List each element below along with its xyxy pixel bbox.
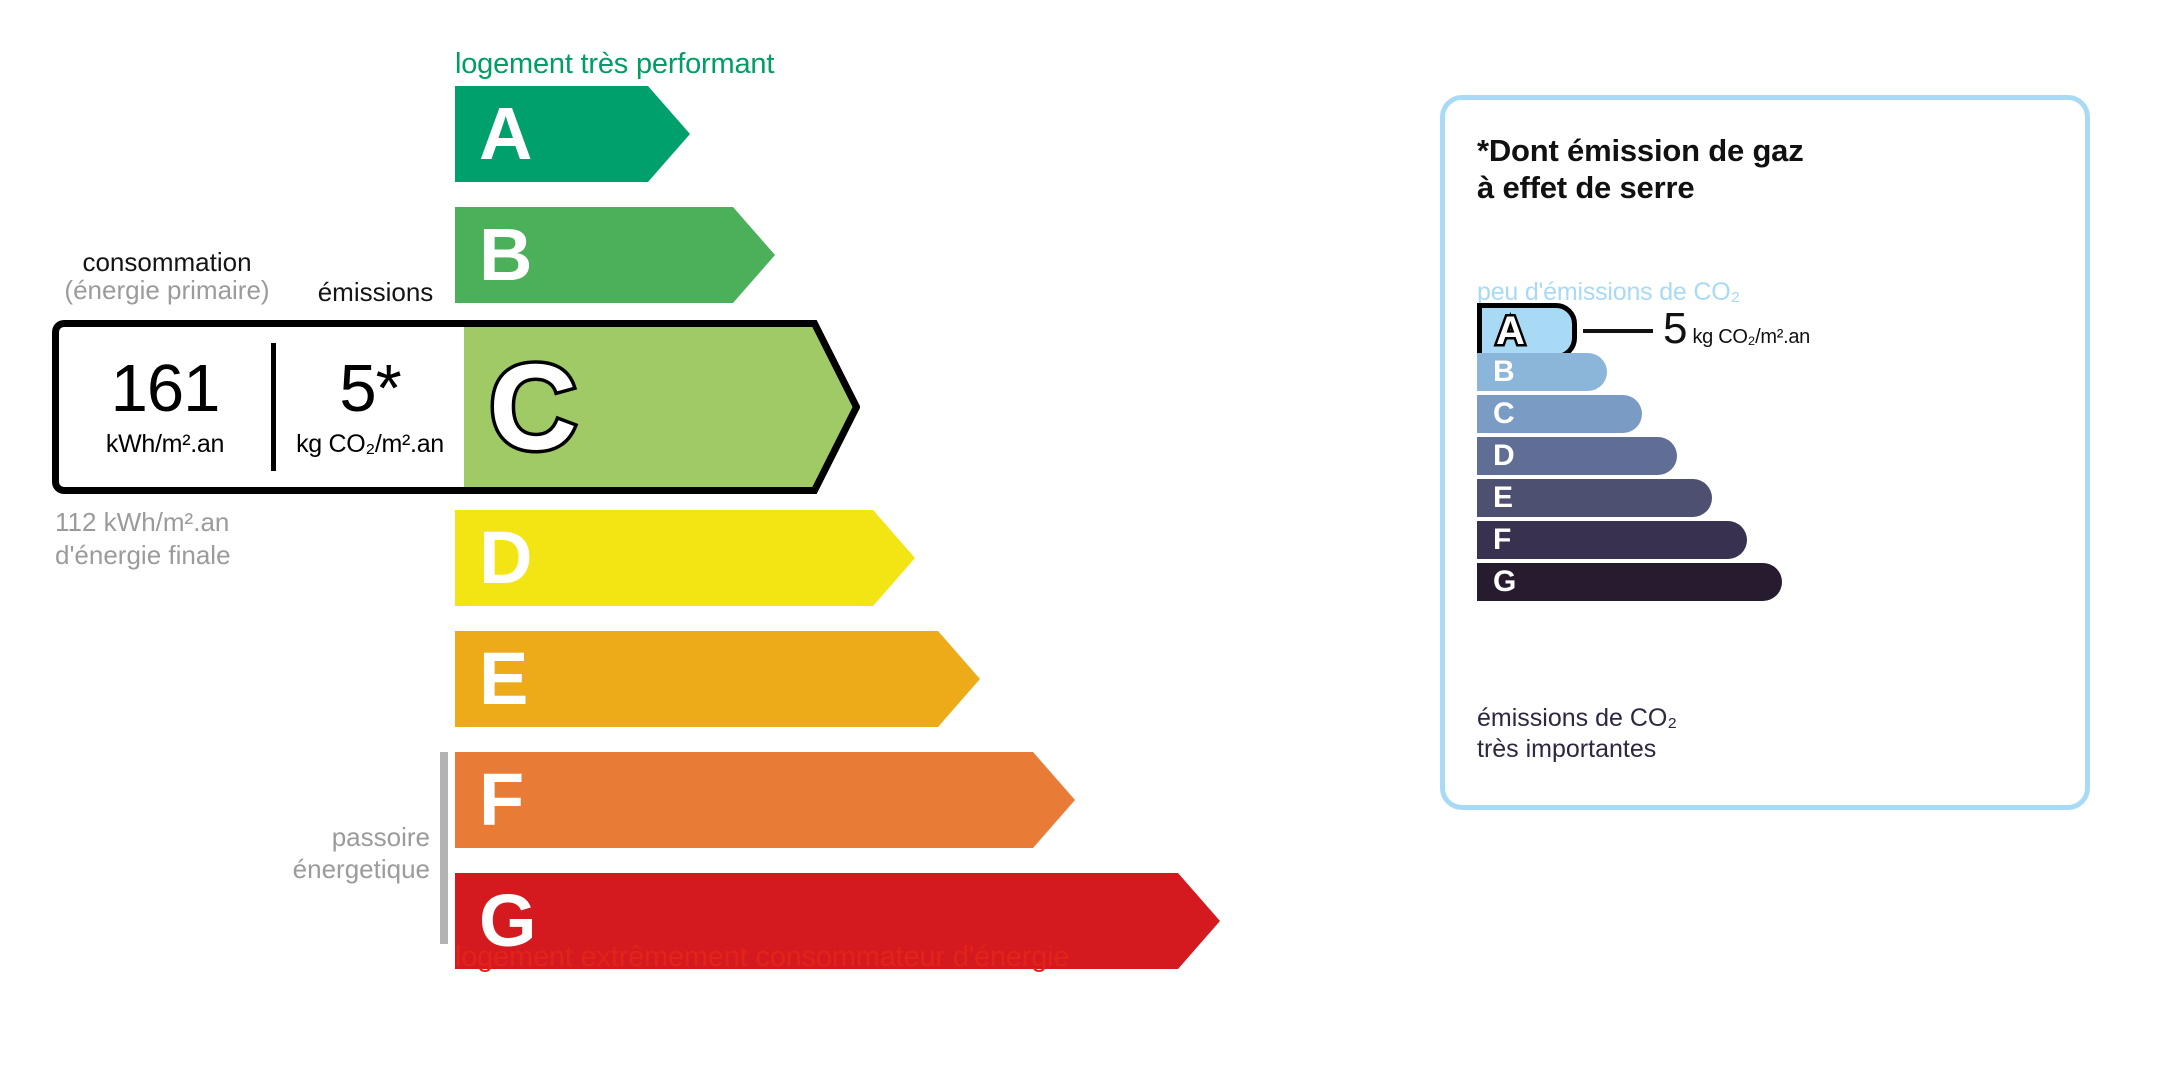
consumption-header-label: consommation — [82, 247, 251, 277]
co2-bar-letter-e: E — [1493, 483, 1513, 513]
energy-bar-c: C — [455, 320, 860, 494]
energy-bar-shape-b: B — [455, 207, 775, 303]
energy-bar-shape-e: E — [455, 631, 980, 727]
energy-rating-diagram: logement très performant consommation (é… — [0, 0, 1380, 1079]
energy-bar-d: D — [455, 510, 915, 606]
co2-bar-letter-a: A — [1496, 311, 1525, 351]
co2-panel-title: *Dont émission de gaz à effet de serre — [1477, 132, 1804, 206]
co2-bar-shape-a: A — [1477, 303, 1577, 359]
co2-bar-c: C — [1477, 395, 1642, 433]
energy-bar-f: F — [455, 752, 1075, 848]
co2-bar-shape-e: E — [1477, 479, 1712, 517]
co2-bar-letter-b: B — [1493, 357, 1515, 387]
energy-bar-e: E — [455, 631, 980, 727]
energy-bar-a: A — [455, 86, 690, 182]
co2-bar-shape-d: D — [1477, 437, 1677, 475]
co2-bar-f: F — [1477, 521, 1747, 559]
co2-bottom-caption-line2: très importantes — [1477, 734, 1677, 765]
final-energy-value: 112 kWh/m².an — [55, 506, 231, 539]
emissions-header: émissions — [288, 278, 463, 306]
co2-bar-b: B — [1477, 353, 1607, 391]
energy-bar-b: B — [455, 207, 775, 303]
energy-bar-shape-a: A — [455, 86, 690, 182]
co2-bar-shape-c: C — [1477, 395, 1642, 433]
co2-bottom-caption-line1: émissions de CO₂ — [1477, 703, 1677, 734]
passoire-bracket — [440, 752, 448, 944]
consumption-header-sublabel: (énergie primaire) — [52, 276, 282, 304]
final-energy-label: d'énergie finale — [55, 539, 231, 572]
energy-bar-letter-f: F — [479, 763, 524, 837]
co2-bar-g: G — [1477, 563, 1782, 601]
consumption-value: 161 — [111, 355, 220, 422]
co2-bar-shape-g: G — [1477, 563, 1782, 601]
energy-top-caption: logement très performant — [455, 48, 774, 81]
co2-value-readout: 5kg CO₂/m².an — [1663, 304, 1810, 354]
energy-bar-letter-c: C — [489, 346, 577, 468]
emission-unit: kg CO₂/m².an — [296, 430, 444, 459]
emission-value: 5* — [339, 355, 400, 422]
co2-bar-d: D — [1477, 437, 1677, 475]
energy-bar-letter-e: E — [479, 642, 528, 716]
passoire-label-line1: passoire — [255, 822, 430, 854]
energy-bar-letter-d: D — [479, 521, 532, 595]
co2-unit: kg CO₂/m².an — [1692, 326, 1810, 348]
energy-bar-shape-d: D — [455, 510, 915, 606]
passoire-label-line2: énergetique — [255, 854, 430, 886]
co2-bar-letter-d: D — [1493, 441, 1515, 471]
consumption-unit: kWh/m².an — [106, 430, 224, 459]
co2-bar-shape-b: B — [1477, 353, 1607, 391]
co2-title-line2: à effet de serre — [1477, 169, 1804, 206]
co2-bar-shape-f: F — [1477, 521, 1747, 559]
co2-bar-e: E — [1477, 479, 1712, 517]
co2-bar-letter-c: C — [1493, 399, 1515, 429]
co2-title-line1: *Dont émission de gaz — [1477, 132, 1804, 169]
co2-value: 5 — [1663, 304, 1687, 353]
energy-bar-shape-f: F — [455, 752, 1075, 848]
consumption-header: consommation (énergie primaire) — [52, 248, 282, 304]
co2-bar-letter-g: G — [1493, 567, 1516, 597]
co2-bottom-caption: émissions de CO₂ très importantes — [1477, 703, 1677, 766]
co2-emissions-panel: *Dont émission de gaz à effet de serre p… — [1440, 95, 2090, 810]
energy-bottom-caption: logement extrêmement consommateur d'éner… — [455, 941, 1069, 974]
co2-bar-letter-f: F — [1493, 525, 1511, 555]
final-energy-note: 112 kWh/m².an d'énergie finale — [55, 506, 231, 573]
passoire-label: passoire énergetique — [255, 822, 430, 885]
energy-bar-shape-c: C — [455, 320, 860, 494]
co2-bar-a: A — [1477, 303, 1577, 359]
emission-value-cell: 5* kg CO₂/m².an — [276, 355, 464, 459]
energy-bar-letter-a: A — [479, 97, 532, 171]
rating-value-box: 161 kWh/m².an 5* kg CO₂/m².an — [52, 320, 464, 494]
co2-leader-line — [1583, 329, 1653, 333]
consumption-value-cell: 161 kWh/m².an — [59, 355, 271, 459]
energy-bar-letter-b: B — [479, 218, 532, 292]
